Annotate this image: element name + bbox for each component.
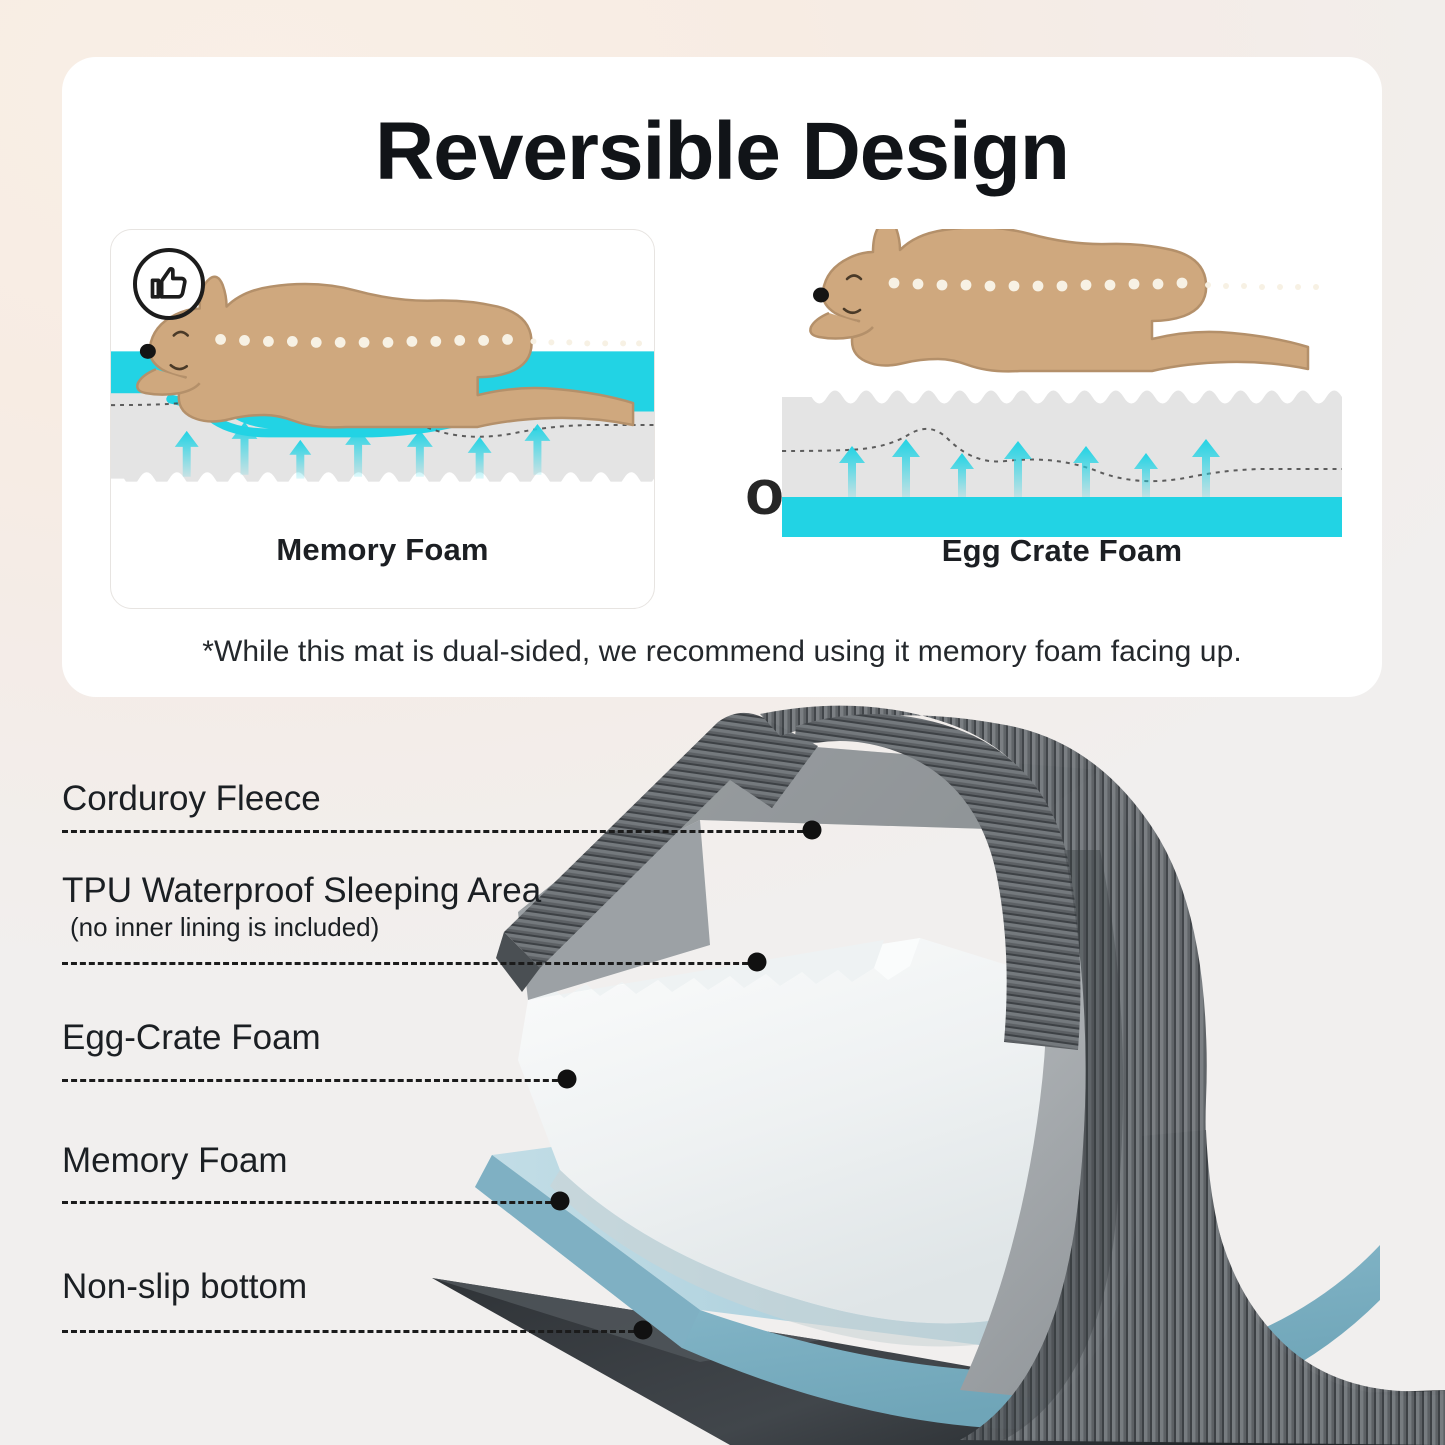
dog-illustration bbox=[810, 229, 1319, 371]
leader-dot-non-slip-bottom bbox=[634, 1321, 653, 1340]
thumbs-up-icon bbox=[133, 248, 205, 320]
reversible-design-card: Reversible Design bbox=[62, 57, 1382, 697]
leader-line-corduroy-fleece bbox=[62, 830, 812, 833]
dog-nose bbox=[140, 344, 156, 359]
leader-dot-tpu-waterproof bbox=[748, 953, 767, 972]
label-tpu-waterproof: TPU Waterproof Sleeping Area (no inner l… bbox=[62, 870, 541, 945]
layer-labels: Corduroy Fleece TPU Waterproof Sleeping … bbox=[0, 700, 900, 1445]
panel-memory-foam: Memory Foam bbox=[110, 229, 655, 609]
leader-dot-egg-crate-foam bbox=[558, 1070, 577, 1089]
leader-line-memory-foam bbox=[62, 1201, 560, 1204]
label-tpu-sublabel: (no inner lining is included) bbox=[62, 911, 541, 945]
page-title: Reversible Design bbox=[62, 105, 1382, 199]
leader-line-non-slip-bottom bbox=[62, 1330, 643, 1333]
egg-crate-foam-layer bbox=[782, 389, 1342, 499]
leader-line-egg-crate-foam bbox=[62, 1079, 567, 1082]
leader-dot-corduroy-fleece bbox=[803, 821, 822, 840]
panel-caption-egg-crate-foam: Egg Crate Foam bbox=[782, 533, 1342, 569]
memory-foam-layer bbox=[782, 497, 1342, 537]
leader-line-tpu-waterproof bbox=[62, 962, 757, 965]
dog-nose bbox=[813, 288, 829, 303]
panel-caption-memory-foam: Memory Foam bbox=[111, 532, 654, 568]
panel-egg-crate-foam: Egg Crate Foam bbox=[782, 229, 1342, 609]
footnote-text: *While this mat is dual-sided, we recomm… bbox=[62, 635, 1382, 669]
leader-dot-memory-foam bbox=[551, 1192, 570, 1211]
label-corduroy-fleece: Corduroy Fleece bbox=[62, 778, 321, 819]
label-memory-foam: Memory Foam bbox=[62, 1140, 288, 1181]
label-egg-crate-foam: Egg-Crate Foam bbox=[62, 1017, 321, 1058]
label-non-slip-bottom: Non-slip bottom bbox=[62, 1266, 307, 1307]
